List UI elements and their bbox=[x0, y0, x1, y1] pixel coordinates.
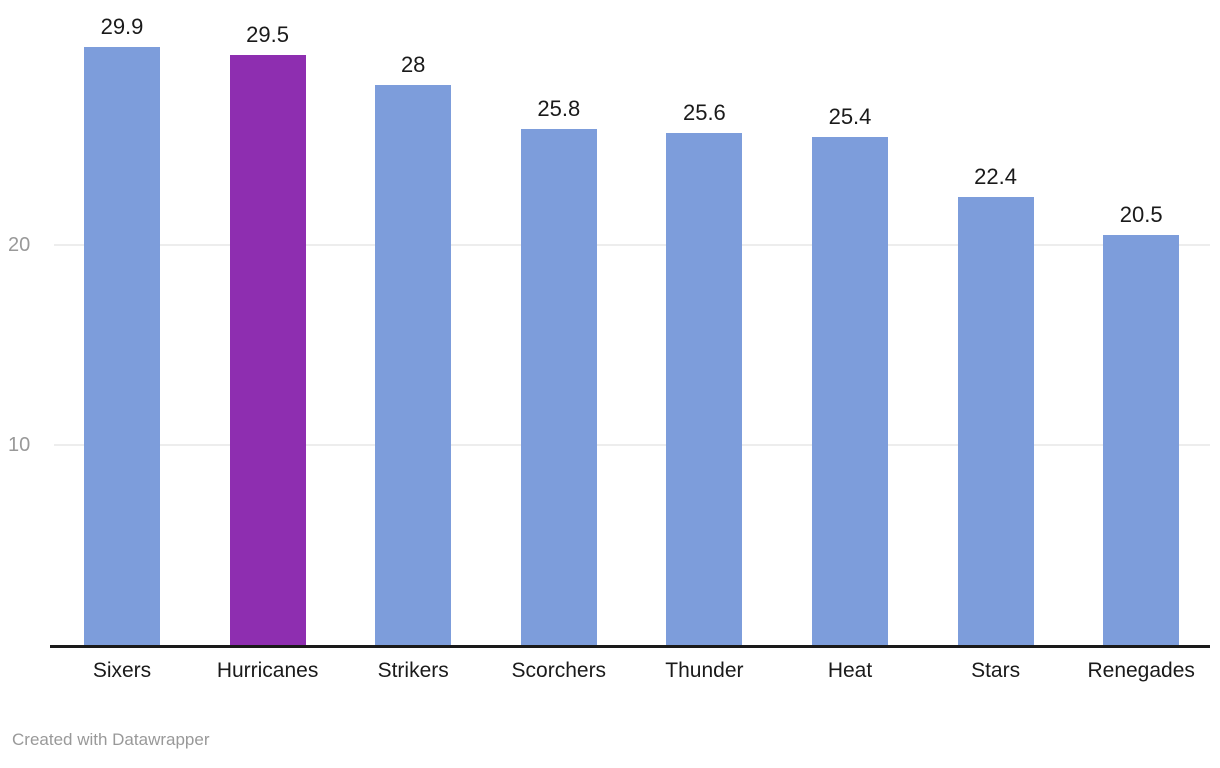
bar[interactable] bbox=[958, 197, 1034, 645]
bar-value-label: 29.9 bbox=[50, 16, 194, 38]
x-axis-baseline bbox=[50, 645, 1210, 648]
bar-group[interactable]: 20.5 bbox=[1103, 235, 1179, 645]
plot-area: 1020 29.929.52825.825.625.422.420.5 bbox=[0, 0, 1220, 646]
bar-value-label: 29.5 bbox=[196, 24, 340, 46]
bar[interactable] bbox=[812, 137, 888, 645]
datawrapper-credit: Created with Datawrapper bbox=[12, 731, 209, 748]
bar-value-label: 25.4 bbox=[778, 106, 922, 128]
bar-value-label: 25.6 bbox=[632, 102, 776, 124]
bar-group[interactable]: 29.9 bbox=[84, 47, 160, 645]
bar[interactable] bbox=[1103, 235, 1179, 645]
bar[interactable] bbox=[84, 47, 160, 645]
bar[interactable] bbox=[230, 55, 306, 645]
bar-group[interactable]: 22.4 bbox=[958, 197, 1034, 645]
bar[interactable] bbox=[375, 85, 451, 645]
bar-group[interactable]: 25.4 bbox=[812, 137, 888, 645]
bar[interactable] bbox=[666, 133, 742, 645]
bars-layer: 29.929.52825.825.625.422.420.5 bbox=[0, 0, 1220, 646]
bar-group[interactable]: 29.5 bbox=[230, 55, 306, 645]
bar-chart: 1020 29.929.52825.825.625.422.420.5 Sixe… bbox=[0, 0, 1220, 768]
bar-group[interactable]: 25.6 bbox=[666, 133, 742, 645]
bar-value-label: 20.5 bbox=[1069, 204, 1213, 226]
x-axis-label-renegades: Renegades bbox=[1051, 660, 1220, 681]
bar-group[interactable]: 28 bbox=[375, 85, 451, 645]
bar[interactable] bbox=[521, 129, 597, 645]
bar-value-label: 25.8 bbox=[487, 98, 631, 120]
x-axis-category-labels: SixersHurricanesStrikersScorchersThunder… bbox=[0, 652, 1220, 692]
bar-value-label: 28 bbox=[341, 54, 485, 76]
bar-value-label: 22.4 bbox=[924, 166, 1068, 188]
bar-group[interactable]: 25.8 bbox=[521, 129, 597, 645]
